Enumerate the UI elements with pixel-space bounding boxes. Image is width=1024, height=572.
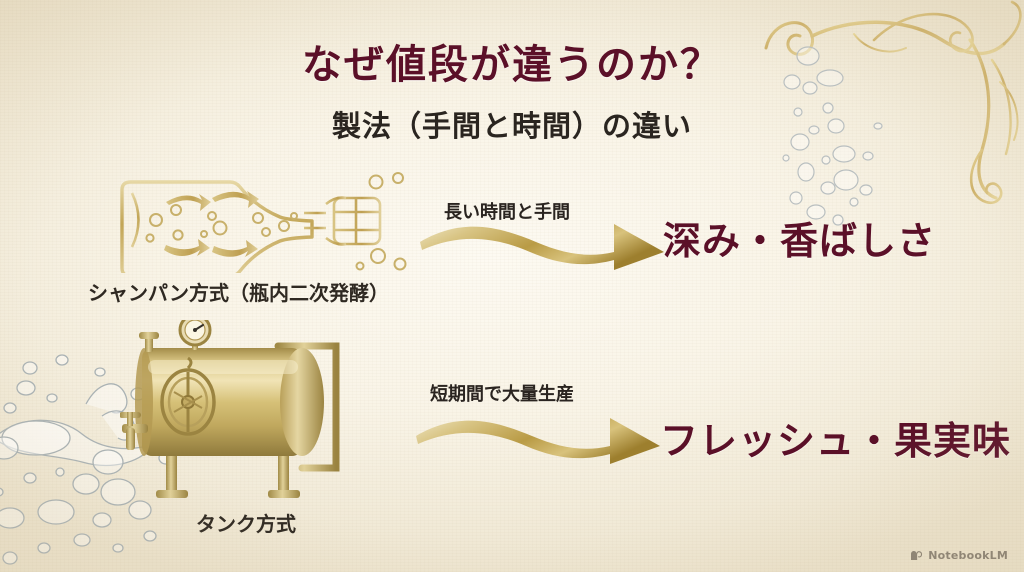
arrow-label-mass-production: 短期間で大量生産 <box>430 380 574 406</box>
gold-curve-arrow-1 <box>418 210 668 272</box>
notebooklm-watermark: NotebookLM <box>910 549 1008 562</box>
champagne-bottle-icon <box>108 168 408 273</box>
page-subtitle: 製法（手間と時間）の違い <box>0 103 1024 145</box>
pressure-tank-icon <box>120 320 380 510</box>
result-text-depth: 深み・香ばしさ <box>663 210 936 265</box>
gold-curve-arrow-2 <box>414 404 664 466</box>
page-title: なぜ値段が違うのか？ <box>0 32 1024 90</box>
notebooklm-logo-icon <box>910 550 923 562</box>
method-label-tank: タンク方式 <box>196 508 296 537</box>
method-label-champagne: シャンパン方式（瓶内二次発酵） <box>88 277 389 306</box>
pressure-gauge-icon <box>180 320 210 350</box>
result-text-fresh: フレッシュ・果実味 <box>660 410 1011 465</box>
watermark-label: NotebookLM <box>928 549 1008 562</box>
slide-canvas: なぜ値段が違うのか？ 製法（手間と時間）の違い <box>0 0 1024 572</box>
